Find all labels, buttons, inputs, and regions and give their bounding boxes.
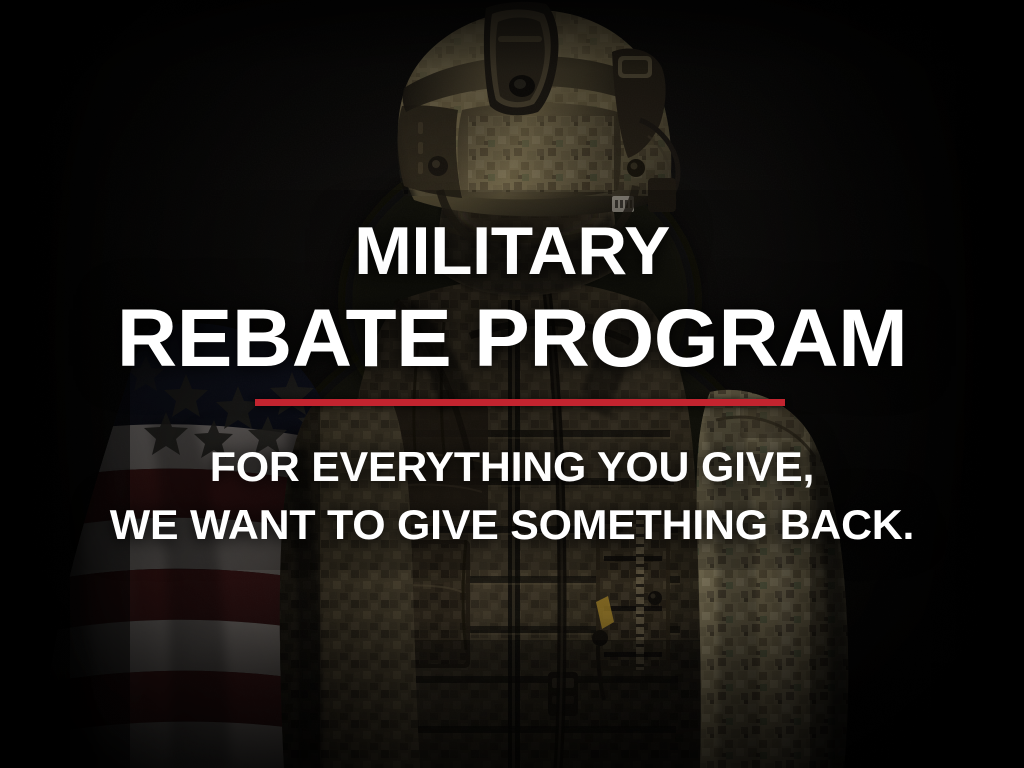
page-title-line-1: MILITARY: [0, 217, 1024, 285]
subtitle-line-1: FOR EVERYTHING YOU GIVE,: [0, 446, 1024, 488]
red-divider-rule: [255, 399, 785, 406]
poster-text-overlay: MILITARY REBATE PROGRAM FOR EVERYTHING Y…: [0, 0, 1024, 768]
military-rebate-poster: MILITARY REBATE PROGRAM FOR EVERYTHING Y…: [0, 0, 1024, 768]
page-title-line-2: REBATE PROGRAM: [0, 298, 1024, 380]
subtitle-line-2: WE WANT TO GIVE SOMETHING BACK.: [0, 504, 1024, 546]
